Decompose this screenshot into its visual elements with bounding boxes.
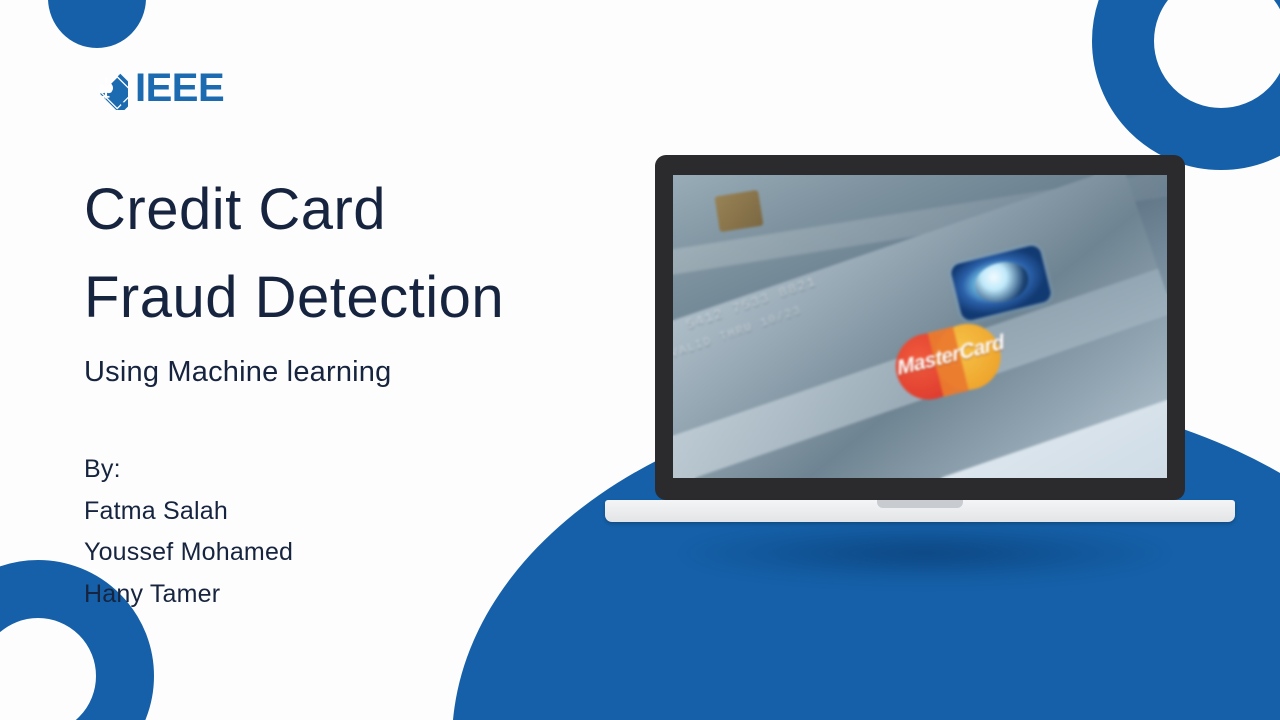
title-content-column: IEEE Credit Card Fraud Detection Using M…: [84, 62, 664, 615]
author-name-1: Fatma Salah: [84, 491, 664, 533]
authors-label: By:: [84, 449, 664, 491]
ieee-diamond-icon: [84, 66, 128, 110]
author-name-3: Hany Tamer: [84, 574, 664, 616]
credit-card-photo: 5412 7533 8821 VALID THRU 10/23 MasterCa…: [673, 175, 1167, 478]
laptop-shadow: [675, 523, 1175, 583]
card-chip-icon: [715, 190, 765, 233]
page-title: Credit Card Fraud Detection Using Machin…: [84, 166, 664, 389]
decor-top-left-half-circle: [48, 0, 146, 48]
subtitle: Using Machine learning: [84, 356, 664, 389]
title-line-2: Fraud Detection: [84, 254, 664, 342]
ieee-wordmark: IEEE: [135, 68, 224, 108]
laptop-lid: 5412 7533 8821 VALID THRU 10/23 MasterCa…: [655, 155, 1185, 500]
laptop-screen: 5412 7533 8821 VALID THRU 10/23 MasterCa…: [673, 175, 1167, 478]
decor-top-right-ring: [1092, 0, 1280, 170]
laptop-illustration: 5412 7533 8821 VALID THRU 10/23 MasterCa…: [655, 155, 1185, 522]
laptop-notch: [877, 500, 963, 508]
ieee-logo: IEEE: [84, 62, 664, 114]
hologram-globe: [971, 257, 1032, 307]
authors-list: By: Fatma Salah Youssef Mohamed Hany Tam…: [84, 449, 664, 615]
title-line-1: Credit Card: [84, 166, 664, 254]
title-slide: IEEE Credit Card Fraud Detection Using M…: [0, 0, 1280, 720]
author-name-2: Youssef Mohamed: [84, 532, 664, 574]
laptop-base: [605, 500, 1235, 522]
